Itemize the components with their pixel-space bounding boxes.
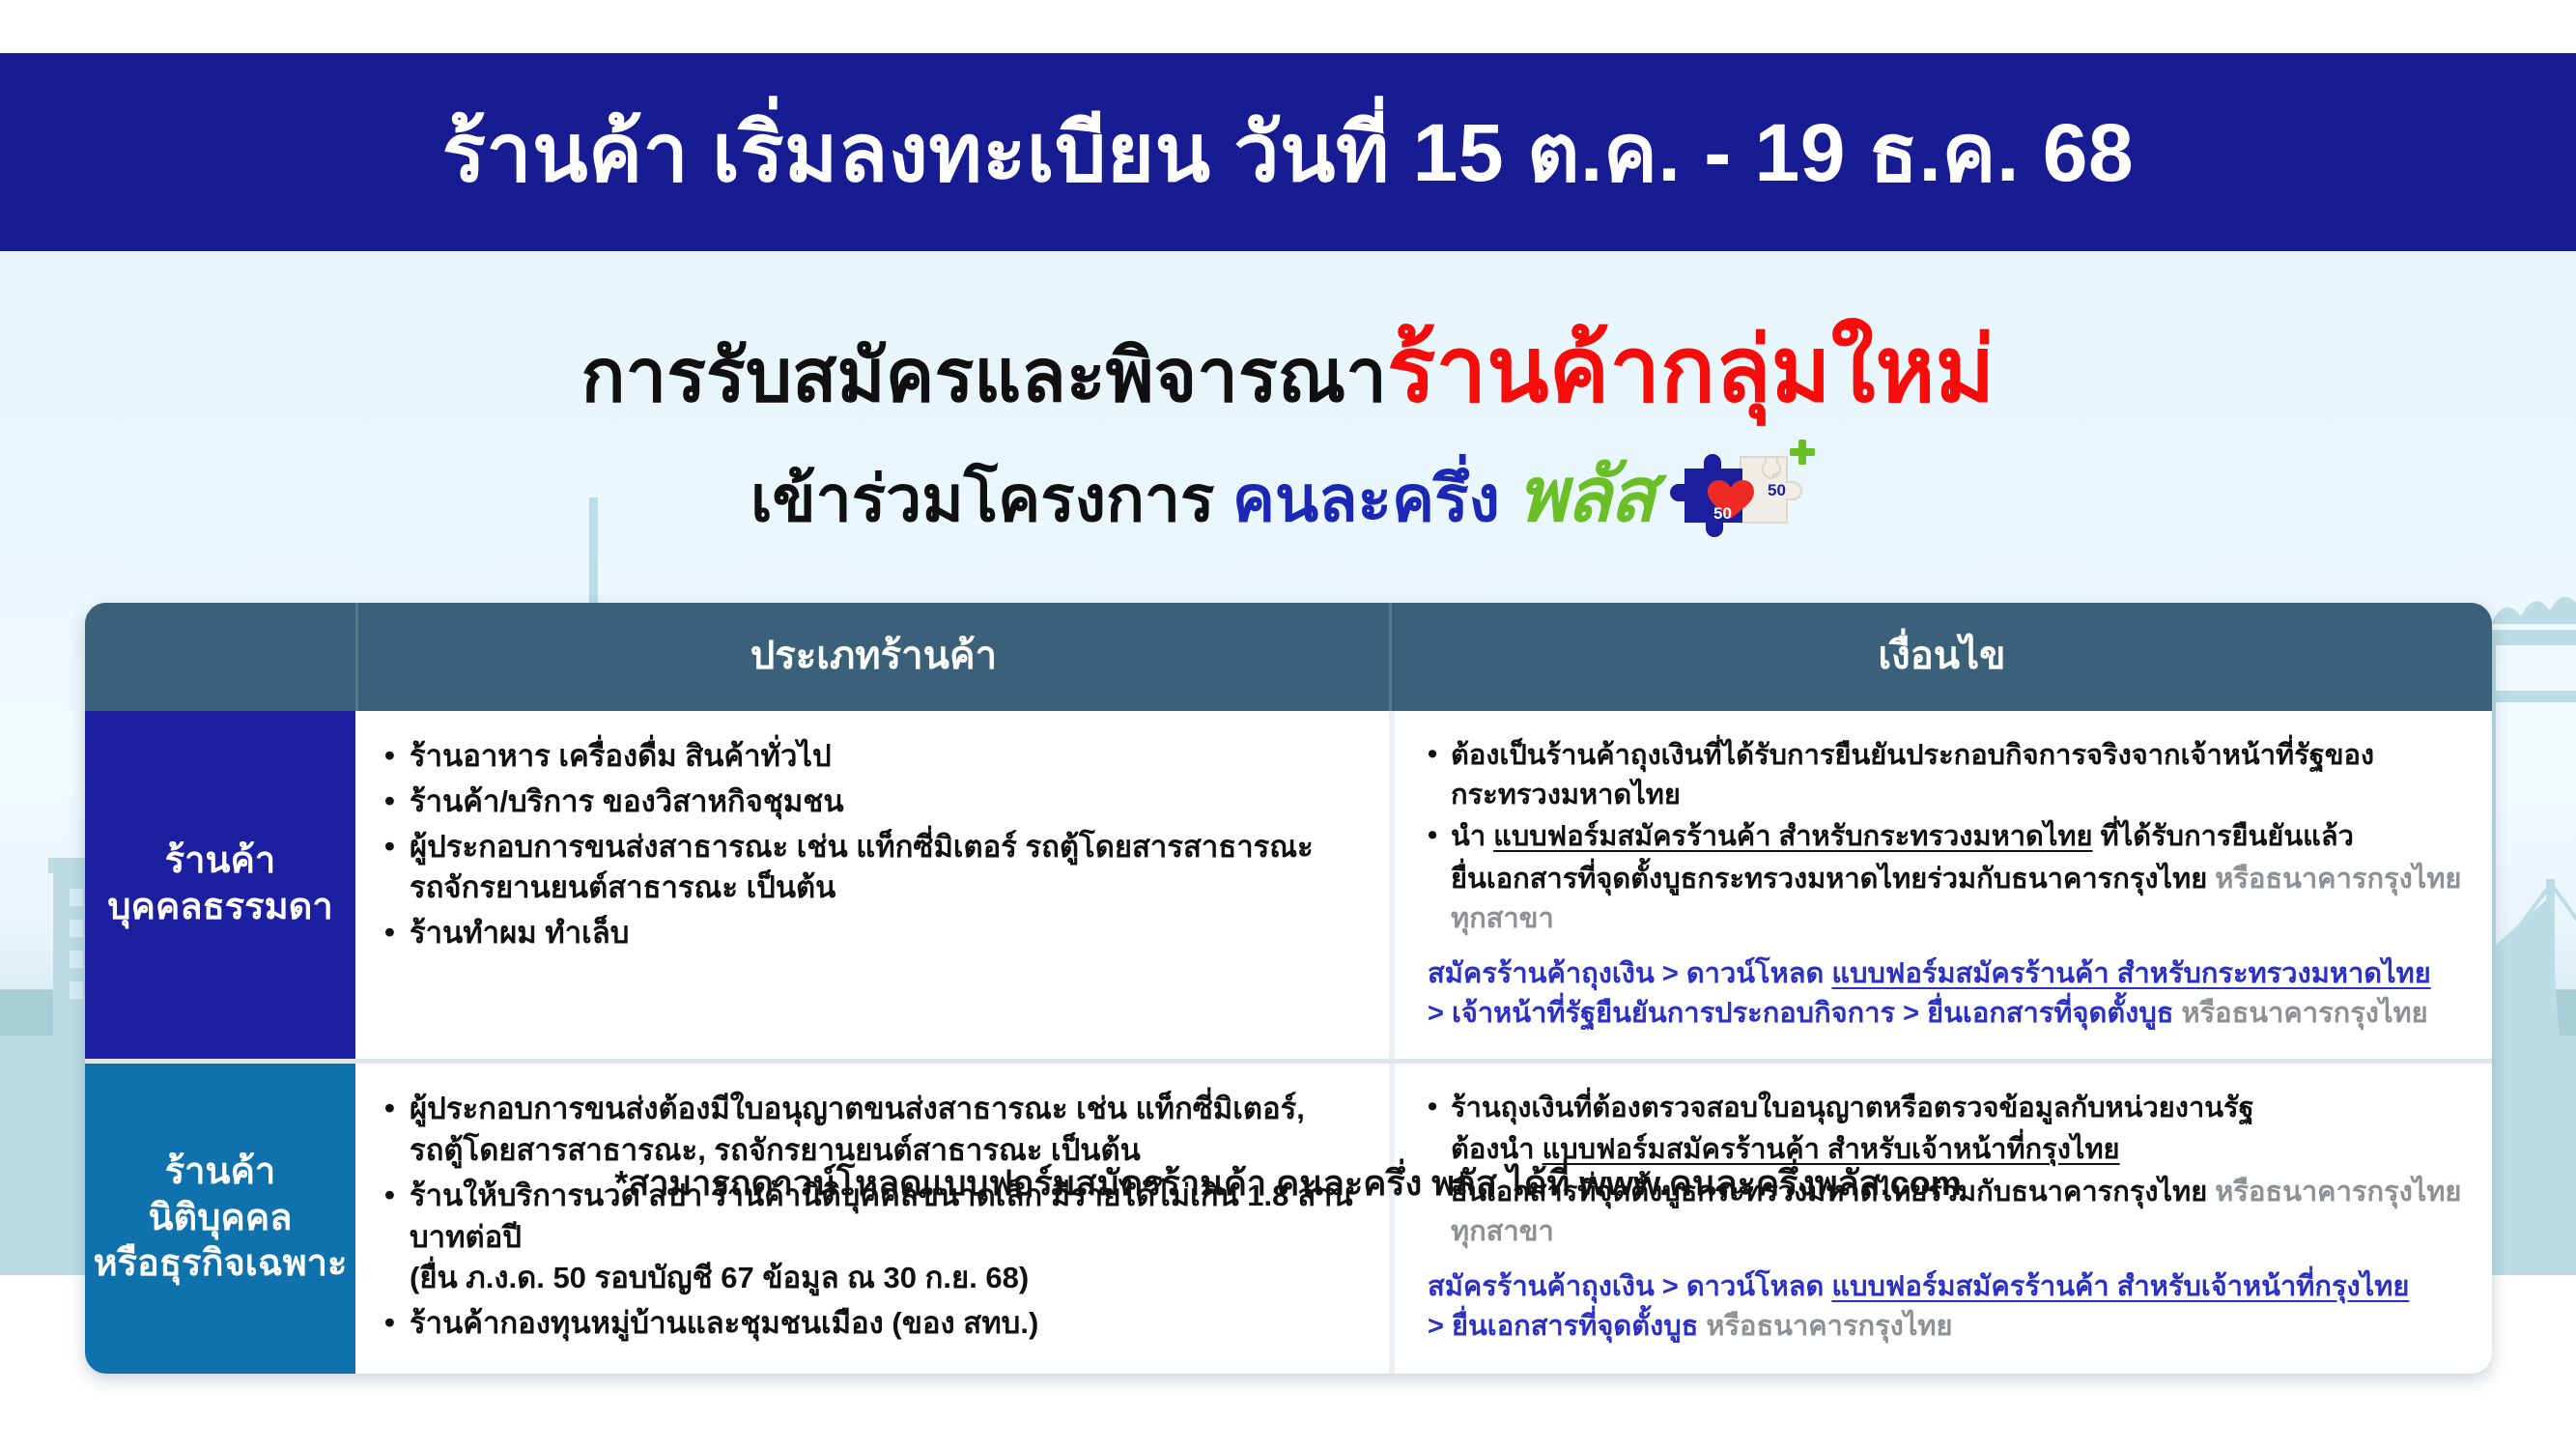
- list-item: ร้านอาหาร เครื่องดื่ม สินค้าทั่วไป: [384, 736, 1364, 778]
- headline-line1-black: การรับสมัครและพิจารณา: [581, 335, 1387, 417]
- row1-label-line2: บุคคลธรรมดา: [107, 885, 332, 931]
- list-item: ร้านถุงเงินที่ต้องตรวจสอบใบอนุญาตหรือตรว…: [1428, 1089, 2463, 1128]
- flow-prefix: สมัครร้านค้าถุงเงิน > ดาวน์โหลด: [1428, 958, 1831, 989]
- headline-line2-blue: คนละครึ่ง: [1232, 463, 1500, 534]
- list-item: ร้านค้า/บริการ ของวิสาหกิจชุมชน: [384, 781, 1364, 823]
- table-header-row: ประเภทร้านค้า เงื่อนไข: [85, 603, 2492, 711]
- table-row: ร้านค้า นิติบุคคล หรือธุรกิจเฉพาะ ผู้ประ…: [85, 1064, 2492, 1374]
- list-item-continuation: รถจักรยานยนต์สาธารณะ เป็นต้น: [410, 867, 1364, 909]
- flow-line2-text: > เจ้าหน้าที่รัฐยืนยันการประกอบกิจการ > …: [1428, 998, 2173, 1029]
- footnote-download-link: *สามารถดาวน์โหลดแบบฟอร์มสมัครร้านค้า คนล…: [0, 1155, 2576, 1210]
- headline-block: การรับสมัครและพิจารณาร้านค้ากลุ่มใหม่ เข…: [0, 319, 2576, 546]
- top-white-strip: [0, 0, 2576, 53]
- flow-line2-text: > ยื่นเอกสารที่จุดตั้งบูธ: [1428, 1311, 1698, 1342]
- row2-conditions-cell: ร้านถุงเงินที่ต้องตรวจสอบใบอนุญาตหรือตรว…: [1389, 1064, 2492, 1374]
- list-item: ร้านค้ากองทุนหมู่บ้านและชุมชนเมือง (ของ …: [384, 1303, 1364, 1345]
- table-header-corner-spacer: [85, 603, 355, 711]
- headline-line1-red: ร้านค้ากลุ่มใหม่: [1387, 319, 1996, 420]
- flow-line2-grey: หรือธนาคารกรุงไทย: [2173, 998, 2427, 1029]
- flow-prefix: สมัครร้านค้าถุงเงิน > ดาวน์โหลด: [1428, 1271, 1831, 1302]
- list-item-continuation: (ยื่น ภ.ง.ด. 50 รอบบัญชี 67 ข้อมูล ณ 30 …: [410, 1258, 1364, 1299]
- flow-form-link-mahadthai[interactable]: แบบฟอร์มสมัครร้านค้า สำหรับกระทรวงมหาดไท…: [1831, 958, 2430, 989]
- table-header-merchant-type: ประเภทร้านค้า: [355, 603, 1389, 711]
- flow-form-link-krungthai-officer[interactable]: แบบฟอร์มสมัครร้านค้า สำหรับเจ้าหน้าที่กร…: [1831, 1271, 2409, 1302]
- row2-type-list: ผู้ประกอบการขนส่งต้องมีใบอนุญาตขนส่งสาธา…: [384, 1089, 1364, 1345]
- headline-line2-green: พลัส: [1517, 451, 1654, 539]
- list-item: ผู้ประกอบการขนส่งสาธารณะ เช่น แท็กซี่มิเ…: [384, 827, 1364, 910]
- table-row: ร้านค้า บุคคลธรรมดา ร้านอาหาร เครื่องดื่…: [85, 711, 2492, 1059]
- row2-label-line3: หรือธุรกิจเฉพาะ: [94, 1241, 348, 1288]
- headline-line-1: การรับสมัครและพิจารณาร้านค้ากลุ่มใหม่: [0, 319, 2576, 420]
- flow-line-1: สมัครร้านค้าถุงเงิน > ดาวน์โหลด แบบฟอร์ม…: [1428, 1267, 2463, 1307]
- header-banner-title: ร้านค้า เริ่มลงทะเบียน วันที่ 15 ต.ค. - …: [442, 112, 2134, 193]
- headline-line2-black: เข้าร่วมโครงการ: [750, 463, 1215, 534]
- row-label-juristic-merchant: ร้านค้า นิติบุคคล หรือธุรกิจเฉพาะ: [85, 1064, 355, 1374]
- list-item-text: ผู้ประกอบการขนส่งสาธารณะ เช่น แท็กซี่มิเ…: [410, 830, 1314, 864]
- list-item: ต้องเป็นร้านค้าถุงเงินที่ได้รับการยืนยัน…: [1428, 736, 2463, 815]
- list-item: ร้านทำผม ทำเล็บ: [384, 913, 1364, 954]
- row2-flow-steps: สมัครร้านค้าถุงเงิน > ดาวน์โหลด แบบฟอร์ม…: [1428, 1267, 2463, 1347]
- row1-label-line1: ร้านค้า: [165, 838, 275, 885]
- infographic-poster: ร้านค้า เริ่มลงทะเบียน วันที่ 15 ต.ค. - …: [0, 0, 2576, 1449]
- header-banner: ร้านค้า เริ่มลงทะเบียน วันที่ 15 ต.ค. - …: [0, 53, 2576, 251]
- khon-la-khrueng-plus-logo: 50 50: [1661, 430, 1826, 546]
- flow-line2-grey: หรือธนาคารกรุงไทย: [1698, 1311, 1952, 1342]
- list-item-text: ผู้ประกอบการขนส่งต้องมีใบอนุญาตขนส่งสาธา…: [410, 1092, 1305, 1125]
- flow-line-1: สมัครร้านค้าถุงเงิน > ดาวน์โหลด แบบฟอร์ม…: [1428, 954, 2463, 994]
- list-item: ยื่นเอกสารที่จุดตั้งบูธกระทรวงมหาดไทยร่ว…: [1428, 860, 2463, 939]
- row1-merchant-type-cell: ร้านอาหาร เครื่องดื่ม สินค้าทั่วไป ร้านค…: [355, 711, 1389, 1059]
- row-label-individual-merchant: ร้านค้า บุคคลธรรมดา: [85, 711, 355, 1059]
- cond-prefix: นำ: [1451, 821, 1493, 852]
- row1-flow-steps: สมัครร้านค้าถุงเงิน > ดาวน์โหลด แบบฟอร์ม…: [1428, 954, 2463, 1034]
- table-header-conditions: เงื่อนไข: [1389, 603, 2492, 711]
- row1-condition-list: ต้องเป็นร้านค้าถุงเงินที่ได้รับการยืนยัน…: [1428, 736, 2463, 939]
- svg-text:50: 50: [1713, 504, 1732, 523]
- list-item: นำ แบบฟอร์มสมัครร้านค้า สำหรับกระทรวงมหา…: [1428, 817, 2463, 857]
- cond-submit-text: ยื่นเอกสารที่จุดตั้งบูธกระทรวงมหาดไทยร่ว…: [1451, 864, 2207, 895]
- cond-suffix: ที่ได้รับการยืนยันแล้ว: [2093, 821, 2354, 852]
- headline-line-2: เข้าร่วมโครงการ คนละครึ่ง พลัส 50 50: [0, 430, 2576, 546]
- form-link-mahadthai[interactable]: แบบฟอร์มสมัครร้านค้า สำหรับกระทรวงมหาดไท…: [1493, 821, 2092, 852]
- row2-merchant-type-cell: ผู้ประกอบการขนส่งต้องมีใบอนุญาตขนส่งสาธา…: [355, 1064, 1389, 1374]
- merchant-conditions-table: ประเภทร้านค้า เงื่อนไข ร้านค้า บุคคลธรรม…: [85, 603, 2492, 1374]
- flow-line-2: > ยื่นเอกสารที่จุดตั้งบูธ หรือธนาคารกรุง…: [1428, 1307, 2463, 1347]
- row1-conditions-cell: ต้องเป็นร้านค้าถุงเงินที่ได้รับการยืนยัน…: [1389, 711, 2492, 1059]
- row1-type-list: ร้านอาหาร เครื่องดื่ม สินค้าทั่วไป ร้านค…: [384, 736, 1364, 954]
- flow-line-2: > เจ้าหน้าที่รัฐยืนยันการประกอบกิจการ > …: [1428, 994, 2463, 1034]
- svg-text:50: 50: [1768, 481, 1786, 499]
